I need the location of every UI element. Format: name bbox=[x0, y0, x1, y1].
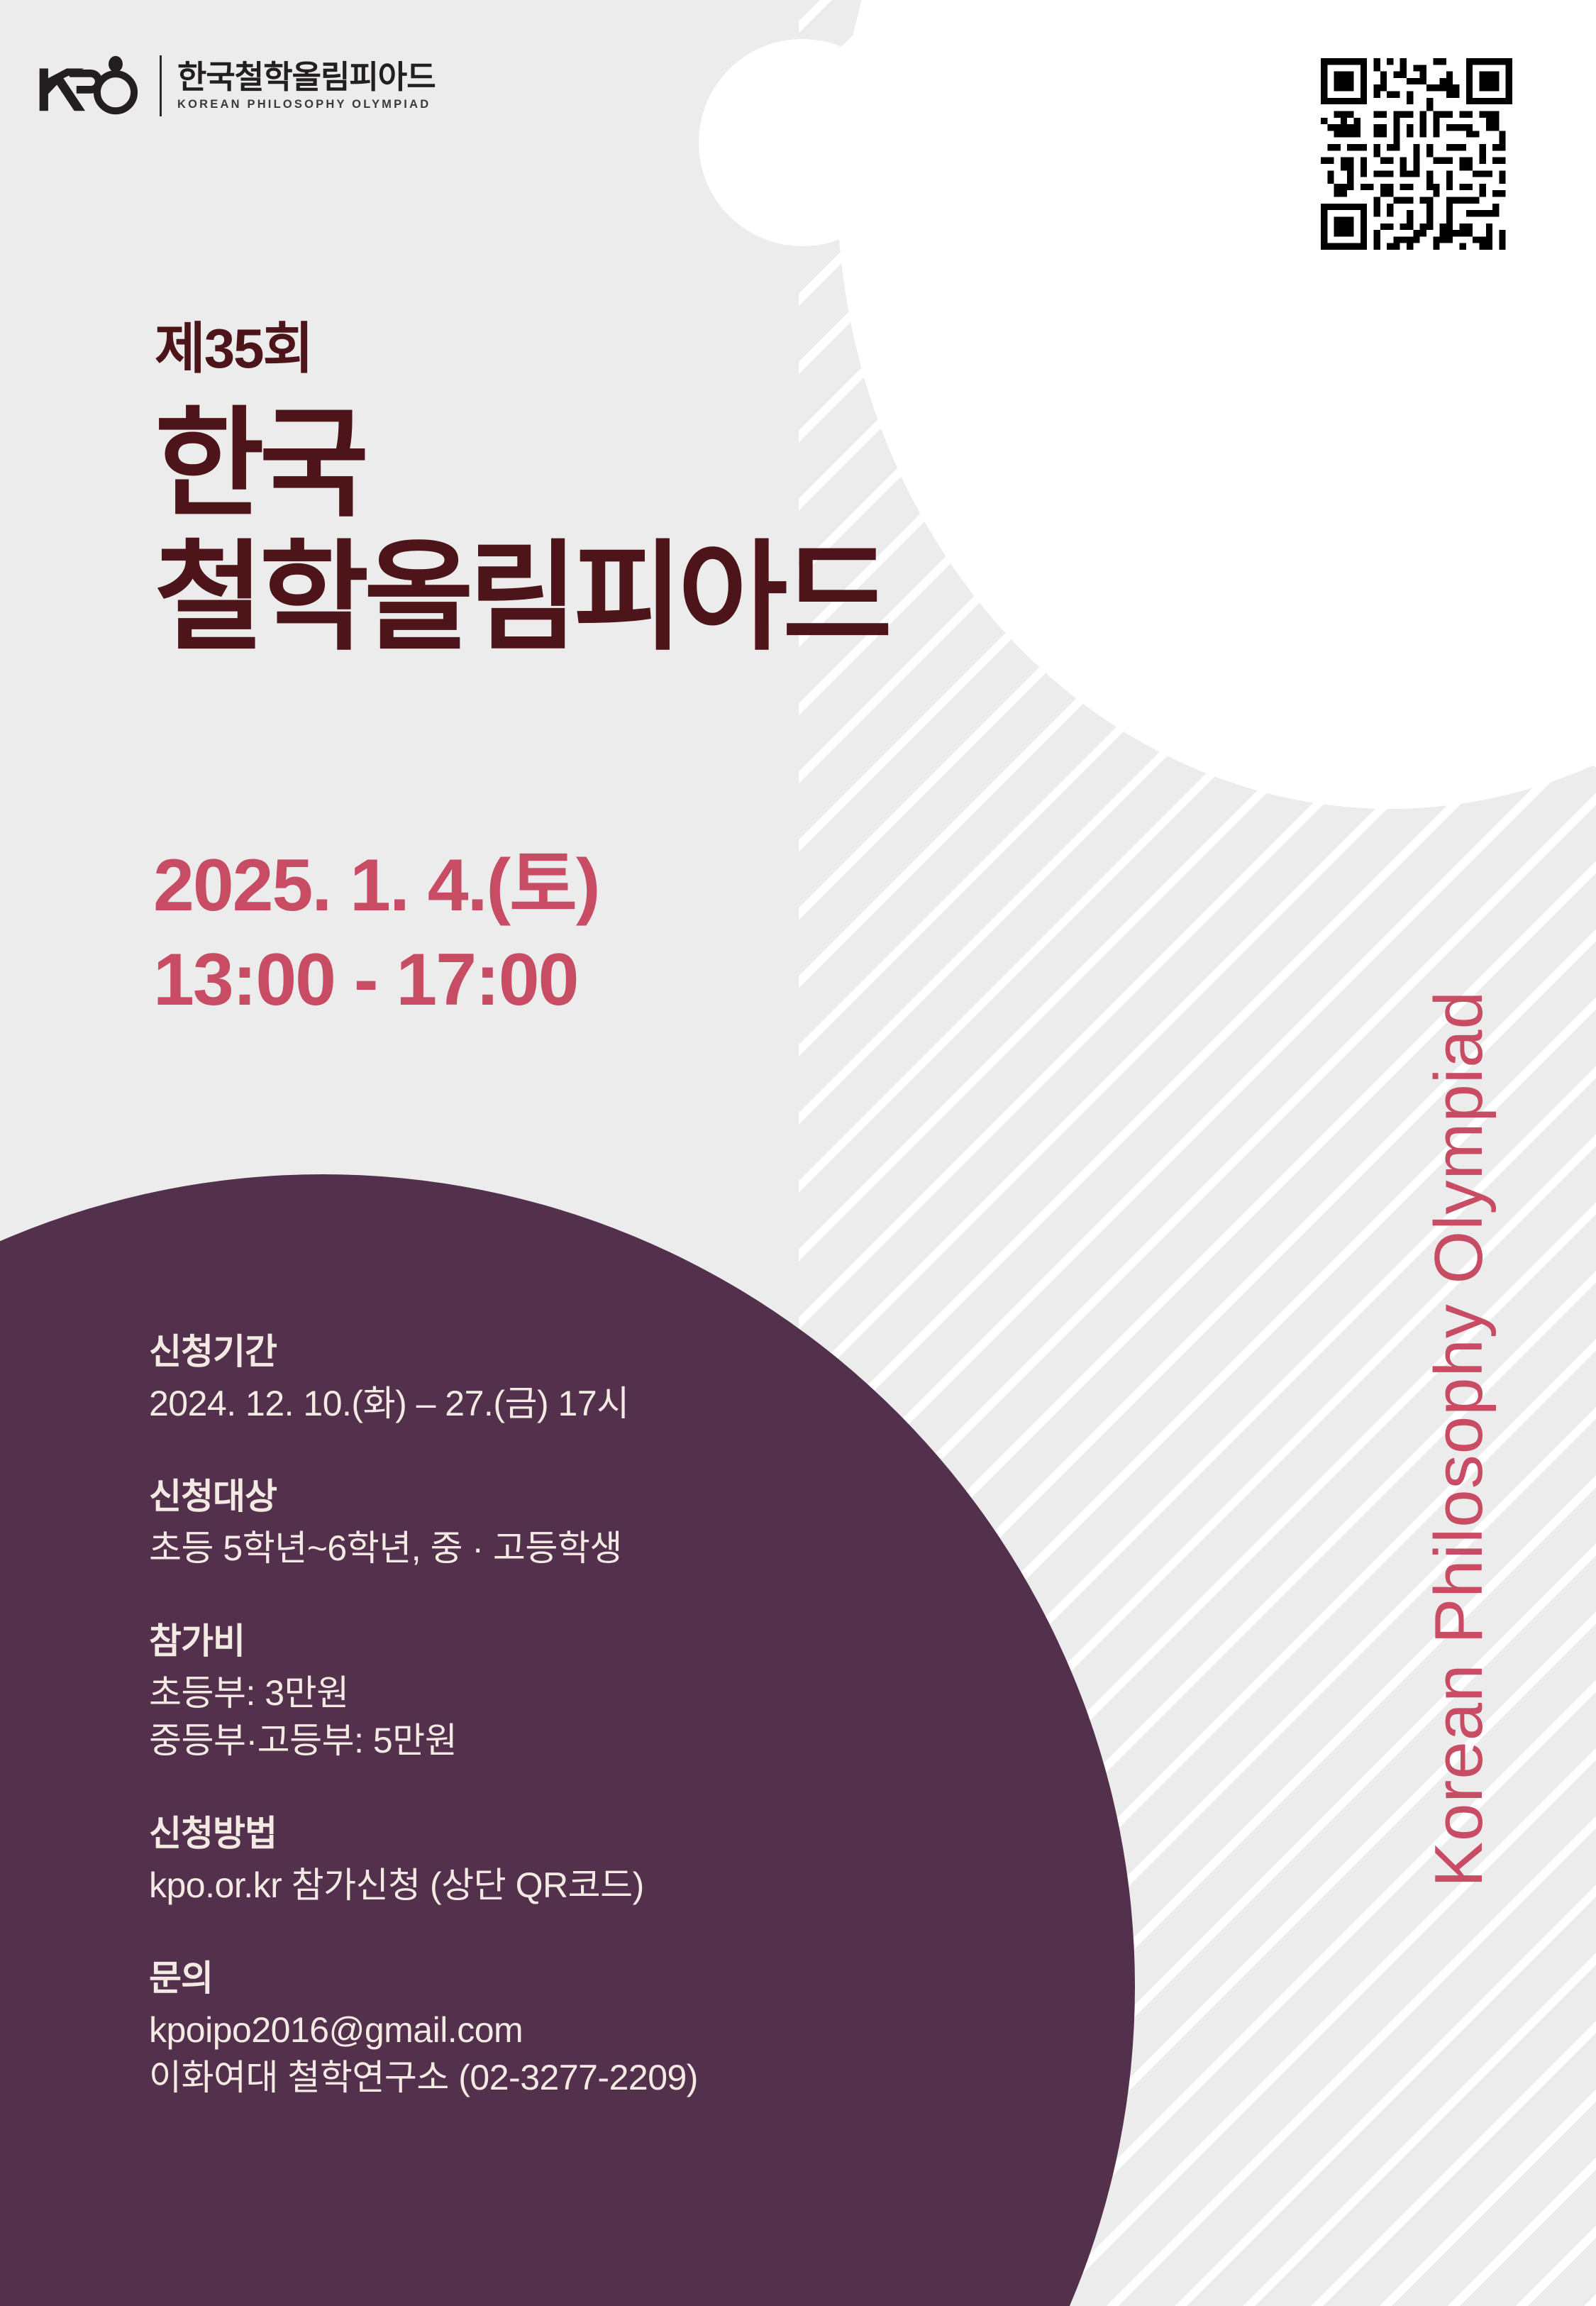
info-group-how-to-apply: 신청방법 kpo.or.kr 참가신청 (상단 QR코드) bbox=[149, 1810, 1000, 1909]
info-value: 초등부: 3만원 bbox=[149, 1670, 1000, 1717]
event-time: 13:00 - 17:00 bbox=[153, 933, 599, 1027]
info-value-application-url[interactable]: kpo.or.kr 참가신청 (상단 QR코드) bbox=[149, 1862, 1000, 1909]
info-value: 중등부·고등부: 5만원 bbox=[149, 1717, 1000, 1765]
info-value-email[interactable]: kpoipo2016@gmail.com bbox=[149, 2007, 1000, 2054]
qr-code-icon bbox=[1321, 58, 1512, 250]
title-line-1: 한국 bbox=[155, 397, 1290, 531]
logo-english-name: KOREAN PHILOSOPHY OLYMPIAD bbox=[177, 98, 436, 111]
info-label: 신청대상 bbox=[149, 1473, 1000, 1521]
white-circle-small bbox=[699, 39, 906, 246]
edition-number: 제35회 bbox=[155, 321, 1290, 376]
info-block: 신청기간 2024. 12. 10.(화) – 27.(금) 17시 신청대상 … bbox=[149, 1328, 1000, 2102]
info-group-contact: 문의 kpoipo2016@gmail.com 이화여대 철학연구소 (02-3… bbox=[149, 1955, 1000, 2102]
kpo-logomark-icon bbox=[34, 53, 148, 118]
info-label: 참가비 bbox=[149, 1618, 1000, 1665]
info-label: 신청기간 bbox=[149, 1328, 1000, 1376]
logo-korean-name: 한국철학올림피아드 bbox=[177, 60, 436, 95]
info-label: 신청방법 bbox=[149, 1810, 1000, 1858]
kpo-logo: 한국철학올림피아드 KOREAN PHILOSOPHY OLYMPIAD bbox=[34, 44, 436, 128]
info-value: 초등 5학년~6학년, 중 · 고등학생 bbox=[149, 1525, 1000, 1572]
qr-code[interactable] bbox=[1321, 58, 1512, 250]
logo-divider bbox=[160, 55, 162, 116]
vertical-side-title: Korean Philosophy Olympiad bbox=[1420, 823, 1498, 1887]
info-group-eligibility: 신청대상 초등 5학년~6학년, 중 · 고등학생 bbox=[149, 1473, 1000, 1572]
info-value-phone: 이화여대 철학연구소 (02-3277-2209) bbox=[149, 2054, 1000, 2102]
event-date: 2025. 1. 4.(토) bbox=[153, 839, 599, 933]
title-line-2: 철학올림피아드 bbox=[155, 531, 1290, 664]
logo-wordmark: 한국철학올림피아드 KOREAN PHILOSOPHY OLYMPIAD bbox=[177, 60, 436, 112]
info-group-fee: 참가비 초등부: 3만원 중등부·고등부: 5만원 bbox=[149, 1618, 1000, 1765]
info-group-application-period: 신청기간 2024. 12. 10.(화) – 27.(금) 17시 bbox=[149, 1328, 1000, 1428]
poster-root: 한국철학올림피아드 KOREAN PHILOSOPHY OLYMPIAD bbox=[0, 0, 1596, 2306]
info-label: 문의 bbox=[149, 1955, 1000, 2002]
headline-block: 제35회 한국 철학올림피아드 bbox=[155, 321, 1290, 664]
info-value: 2024. 12. 10.(화) – 27.(금) 17시 bbox=[149, 1380, 1000, 1428]
event-datetime: 2025. 1. 4.(토) 13:00 - 17:00 bbox=[153, 839, 599, 1027]
